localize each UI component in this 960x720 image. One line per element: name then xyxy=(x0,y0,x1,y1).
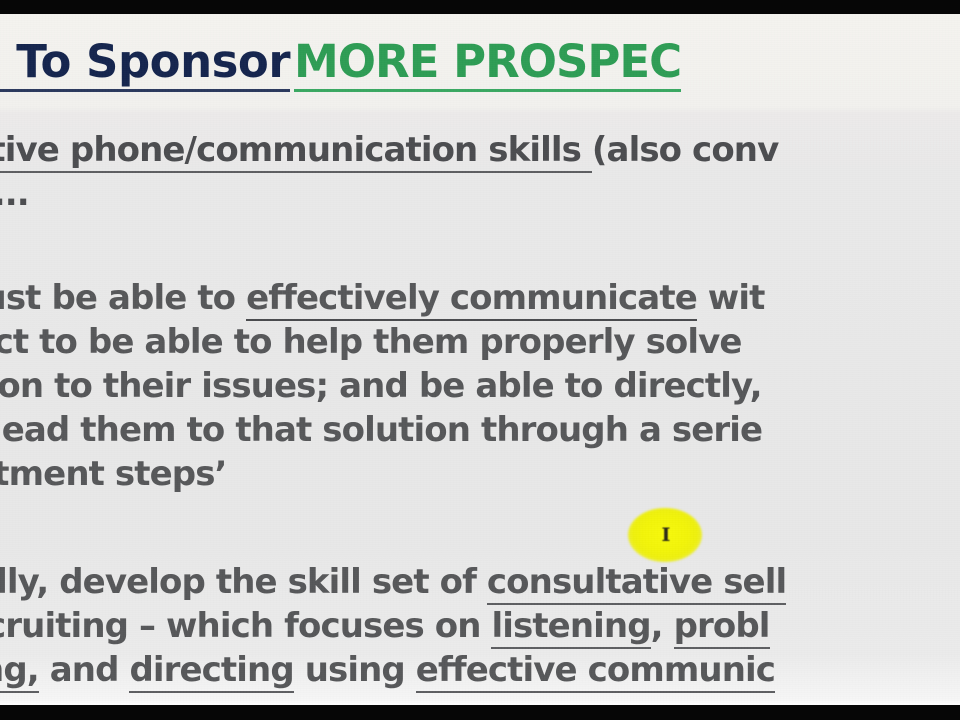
text-run: , xyxy=(651,606,674,646)
text-run: must be able to xyxy=(0,278,246,318)
body-line: pect to be able to help them properly so… xyxy=(0,322,742,362)
slide-surface: w To SponsorMORE PROSPEC ective phone/co… xyxy=(0,14,960,705)
text-run: recruiting – which focuses on xyxy=(0,606,491,646)
text-run: and xyxy=(39,650,130,690)
body-line: ution to their issues; and be able to di… xyxy=(0,366,762,406)
title-segment-green: MORE PROSPEC xyxy=(294,35,681,92)
text-run: wit xyxy=(697,278,765,318)
body-line: ective phone/communication skills (also … xyxy=(0,130,778,170)
video-frame: w To SponsorMORE PROSPEC ective phone/co… xyxy=(0,0,960,720)
text-run-underlined: ective phone/communication skills xyxy=(0,130,592,173)
text-run: (also conv xyxy=(592,130,778,170)
body-line: mitment steps’ xyxy=(0,454,227,494)
text-run-underlined: listening xyxy=(491,606,650,649)
text-run-underlined: directing xyxy=(129,650,293,693)
body-line: ving, and directing using effective comm… xyxy=(0,650,775,690)
text-ibeam-cursor-icon[interactable]: I xyxy=(661,525,671,547)
text-run-underlined: consultative sell xyxy=(487,562,786,605)
text-run: ly lead them to that solution through a … xyxy=(0,410,762,450)
text-run-underlined: effective communic xyxy=(416,650,775,693)
letterbox-bar-top xyxy=(0,0,960,14)
letterbox-bar-bottom xyxy=(0,705,960,720)
title-line: w To SponsorMORE PROSPEC xyxy=(0,30,681,94)
body-line: tially, develop the skill set of consult… xyxy=(0,562,786,602)
body-line: ls)... xyxy=(0,174,29,214)
text-run-underlined: probl xyxy=(674,606,770,649)
body-line: recruiting – which focuses on listening,… xyxy=(0,606,770,646)
title-segment-navy: w To Sponsor xyxy=(0,35,290,92)
text-run-underlined: effectively communicate xyxy=(246,278,697,321)
body-line: must be able to effectively communicate … xyxy=(0,278,764,318)
text-run: tially, develop the skill set of xyxy=(0,562,487,602)
text-run: ution to their issues; and be able to di… xyxy=(0,366,762,406)
text-run: mitment steps’ xyxy=(0,454,227,494)
text-run: using xyxy=(294,650,416,690)
text-run: pect to be able to help them properly so… xyxy=(0,322,742,362)
text-run-underlined: ving, xyxy=(0,650,39,693)
text-run: ls)... xyxy=(0,174,29,214)
body-line: ly lead them to that solution through a … xyxy=(0,410,762,450)
slide-title: w To SponsorMORE PROSPEC xyxy=(0,30,960,104)
